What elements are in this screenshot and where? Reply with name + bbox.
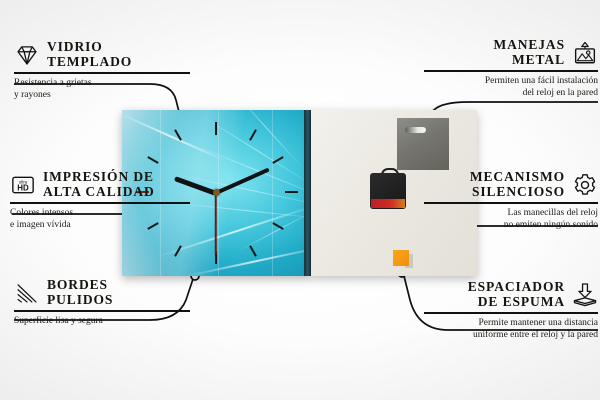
- callout-rule: [424, 202, 598, 204]
- callout-description: Resistencia a grietas y rayones: [14, 78, 190, 101]
- callout-rule: [14, 310, 190, 312]
- hanger-slot: [405, 127, 426, 133]
- clock-glass-edge: [304, 110, 311, 276]
- callout-title: IMPRESIÓN DE ALTA CALIDAD: [43, 170, 155, 199]
- callout-tempered-glass: VIDRIO TEMPLADO Resistencia a grietas y …: [14, 40, 190, 101]
- callout-rule: [424, 70, 598, 72]
- callout-title: MECANISMO SILENCIOSO: [470, 170, 565, 199]
- callout-title: MANEJAS METAL: [493, 38, 565, 67]
- callout-description: Colores intensos e imagen vívida: [10, 208, 190, 231]
- callout-title: BORDES PULIDOS: [47, 278, 113, 307]
- callout-description: Permite mantener una distancia uniforme …: [424, 318, 598, 341]
- callout-rule: [10, 202, 190, 204]
- ultra-hd-large-text: HD: [17, 183, 29, 192]
- diamond-icon: [14, 42, 40, 68]
- callout-hd-print: ultra HD IMPRESIÓN DE ALTA CALIDAD Color…: [10, 170, 190, 231]
- infographic-canvas: VIDRIO TEMPLADO Resistencia a grietas y …: [0, 0, 600, 400]
- callout-title: ESPACIADOR DE ESPUMA: [468, 280, 565, 309]
- callout-description: Permiten una fácil instalación del reloj…: [424, 76, 598, 99]
- metal-hanger-plate: [397, 118, 449, 170]
- foam-spacer-pad: [393, 250, 409, 266]
- picture-frame-hook-icon: [572, 40, 598, 66]
- callout-polished-edges: BORDES PULIDOS Superficie lisa y segura: [14, 278, 190, 328]
- ultra-hd-icon: ultra HD: [10, 172, 36, 198]
- arrow-onto-pad-icon: [572, 282, 598, 308]
- callout-rule: [14, 72, 190, 74]
- callout-description: Superficie lisa y segura: [14, 316, 190, 328]
- callout-rule: [424, 312, 598, 314]
- callout-title: VIDRIO TEMPLADO: [47, 40, 132, 69]
- gear-icon: [572, 172, 598, 198]
- callout-description: Las manecillas del reloj no emiten ningú…: [424, 208, 598, 231]
- callout-foam-spacer: ESPACIADOR DE ESPUMA Permite mantener un…: [424, 280, 598, 341]
- callout-silent-mechanism: MECANISMO SILENCIOSO Las manecillas del …: [424, 170, 598, 231]
- callout-metal-hooks: MANEJAS METAL Permiten una fácil instala…: [424, 38, 598, 99]
- bevel-edge-icon: [14, 280, 40, 306]
- mechanism-label: [371, 199, 405, 208]
